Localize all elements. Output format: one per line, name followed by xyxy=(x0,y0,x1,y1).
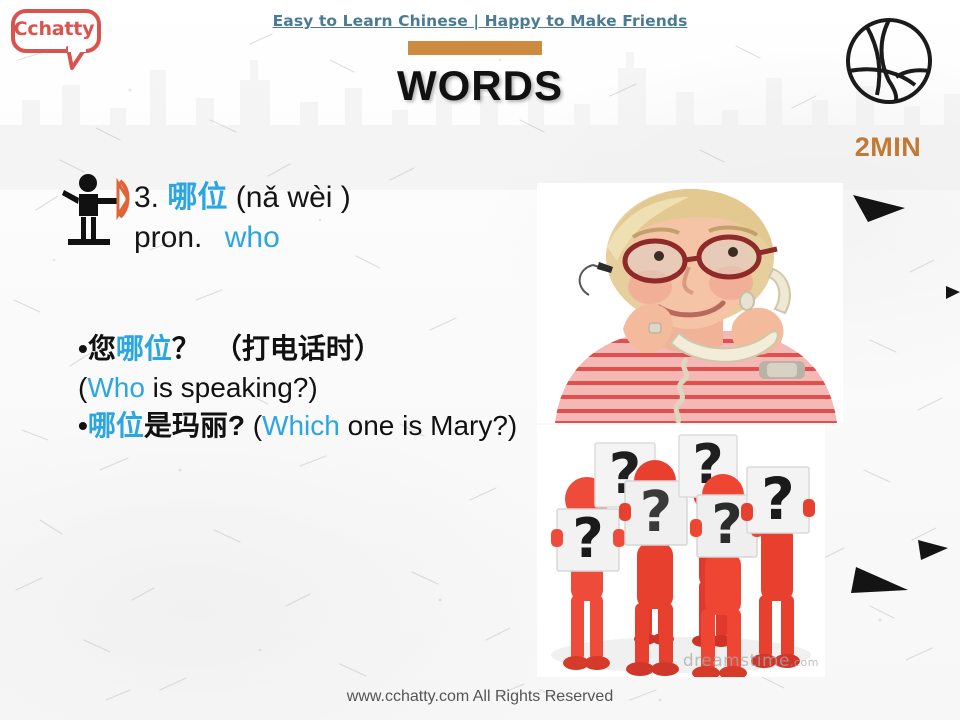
question-mark-people-photo: ? ? ? xyxy=(537,425,825,677)
dreamstime-watermark: dreamstime.com xyxy=(683,651,819,671)
entry-number: 3. xyxy=(134,181,159,214)
example-2-en-open: ( xyxy=(245,410,262,441)
example-2-en-key: Which xyxy=(262,410,340,441)
footer-copyright: www.cchatty.com All Rights Reserved xyxy=(0,688,960,706)
watermark-tld: .com xyxy=(790,656,819,669)
example-1-en-open: ( xyxy=(78,372,87,403)
page-title: WORDS xyxy=(0,62,960,110)
timer-label: 2MIN xyxy=(818,132,958,163)
example-1-cn-key: 哪位 xyxy=(116,333,172,364)
question-mark-figures-illustration: ? ? ? xyxy=(537,425,825,677)
svg-text:?: ? xyxy=(711,493,742,556)
woman-on-telephone-illustration xyxy=(537,183,843,423)
example-2-bullet: • xyxy=(78,410,88,441)
example-1-english: (Who is speaking?) xyxy=(78,369,528,408)
basketball-icon xyxy=(843,15,935,107)
entry-line-1: 3. 哪位 (nǎ wèi ) xyxy=(134,178,534,218)
title-accent-bar xyxy=(408,41,542,55)
svg-text:?: ? xyxy=(572,507,603,570)
example-1-en-rest: is speaking?) xyxy=(145,372,318,403)
svg-text:?: ? xyxy=(761,465,795,533)
woman-on-telephone-photo xyxy=(537,183,843,423)
example-1-cn-pre: 您 xyxy=(88,333,116,364)
vocabulary-entry: 3. 哪位 (nǎ wèi ) pron. who xyxy=(134,178,534,258)
entry-word: 哪位 xyxy=(167,181,227,214)
header-tagline-link[interactable]: Easy to Learn Chinese | Happy to Make Fr… xyxy=(0,12,960,30)
svg-text:?: ? xyxy=(640,480,672,545)
entry-part-of-speech: pron. xyxy=(134,221,202,254)
slide-canvas: Cchatty Easy to Learn Chinese | Happy to… xyxy=(0,0,960,720)
entry-meaning: who xyxy=(225,221,280,254)
entry-line-2: pron. who xyxy=(134,218,534,258)
example-1-en-key: Who xyxy=(87,372,145,403)
example-1-cn-post: ？ （打电话时） xyxy=(172,333,382,364)
watermark-text: dreamstime xyxy=(683,651,790,671)
person-pointing-icon xyxy=(58,173,136,249)
example-2-en-rest: one is Mary?) xyxy=(340,410,517,441)
example-2: •哪位是玛丽? (Which one is Mary?) xyxy=(78,407,528,446)
example-2-cn-post: 是玛丽? xyxy=(144,410,245,441)
example-sentences: •您哪位？ （打电话时） (Who is speaking?) •哪位是玛丽? … xyxy=(78,330,528,446)
entry-pinyin: (nǎ wèi ) xyxy=(236,181,351,214)
example-1-bullet: • xyxy=(78,333,88,364)
example-1-chinese: •您哪位？ （打电话时） xyxy=(78,330,528,369)
example-2-cn-key: 哪位 xyxy=(88,410,144,441)
